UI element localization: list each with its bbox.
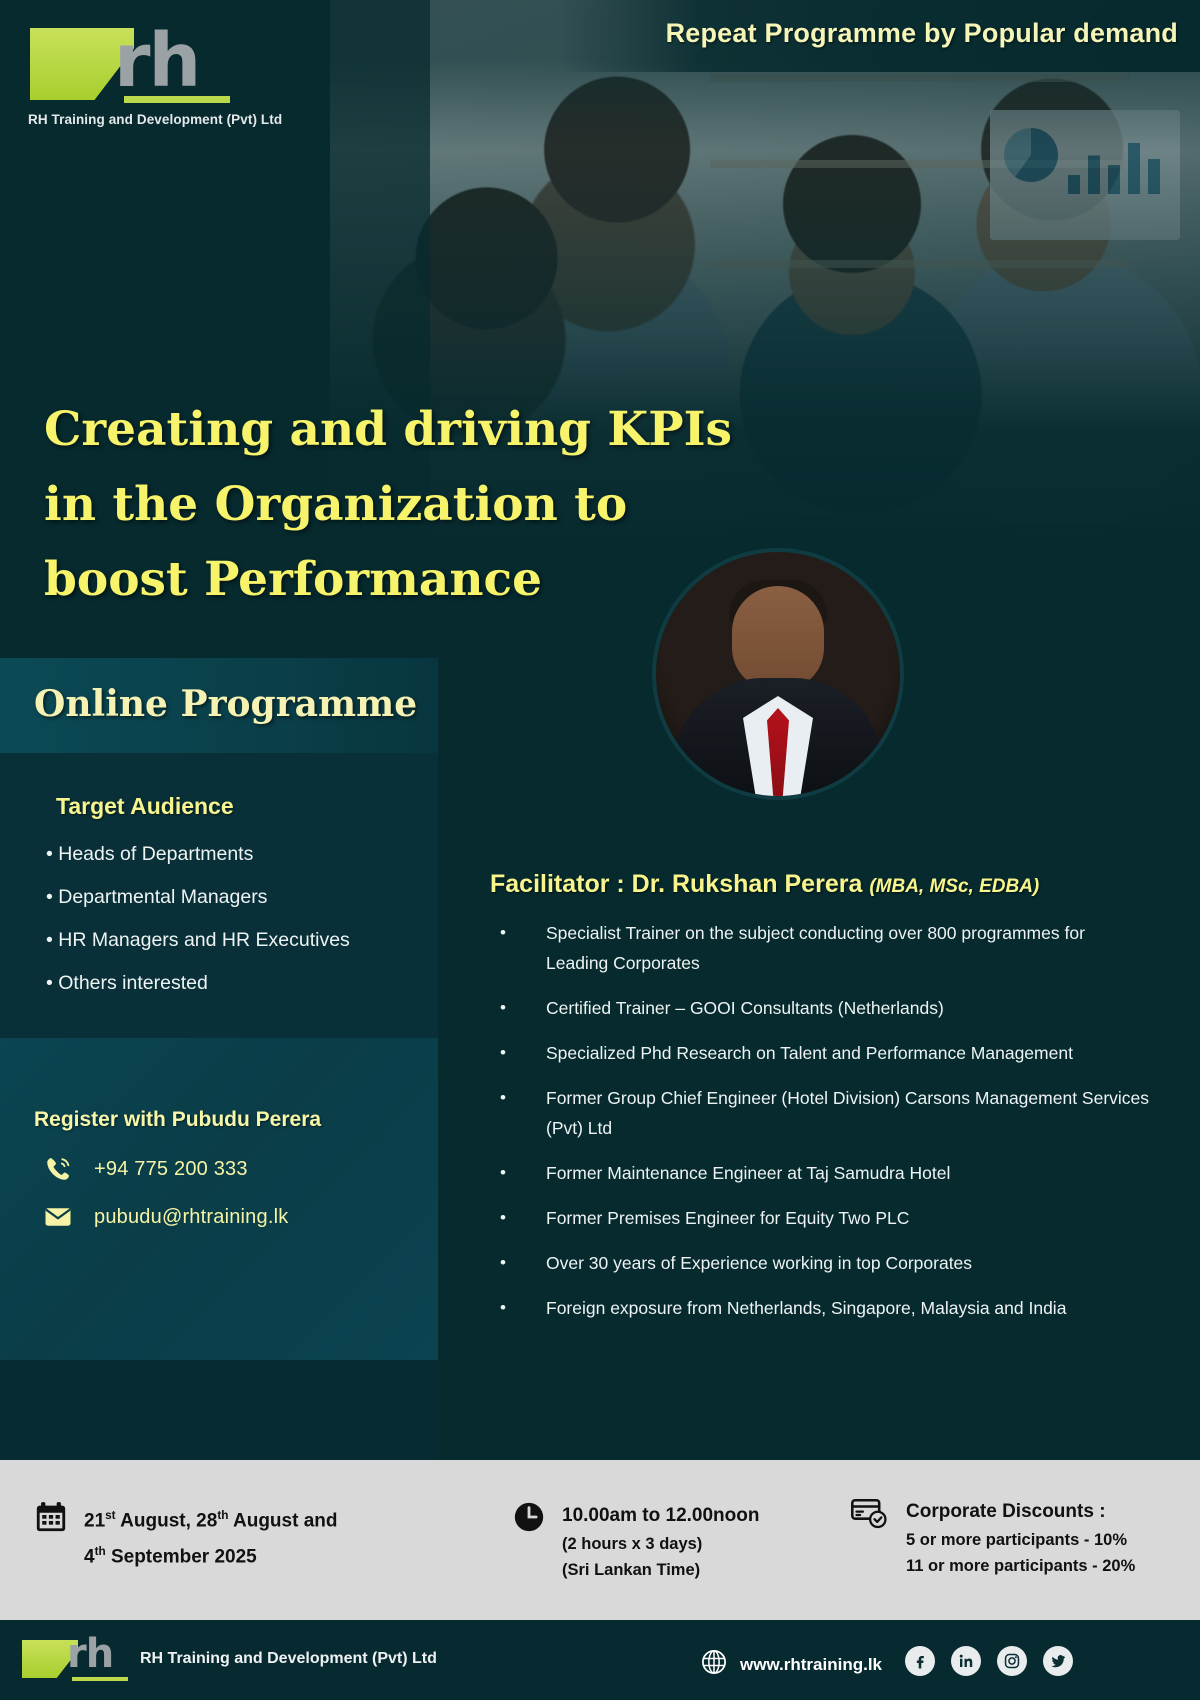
info-time-line-2: (2 hours x 3 days) (562, 1531, 759, 1557)
facebook-icon[interactable] (905, 1646, 935, 1676)
target-audience-heading: Target Audience (56, 793, 234, 820)
footer-company-name: RH Training and Development (Pvt) Ltd (140, 1650, 437, 1668)
title-line-2: in the Organization to (44, 467, 784, 542)
footer-logo-wordmark: rh (67, 1632, 113, 1676)
title-line-1: Creating and driving KPIs (44, 392, 784, 467)
page-title: Creating and driving KPIs in the Organiz… (44, 392, 784, 617)
company-name: RH Training and Development (Pvt) Ltd (28, 112, 328, 127)
list-item: Departmental Managers (46, 886, 426, 909)
register-phone-text: +94 775 200 333 (94, 1158, 248, 1181)
list-item: Certified Trainer – GOOI Consultants (Ne… (490, 993, 1150, 1023)
info-discount-line-1: Corporate Discounts : (906, 1496, 1135, 1527)
list-item: Over 30 years of Experience working in t… (490, 1248, 1150, 1278)
phone-icon (42, 1153, 74, 1185)
footer-logo: rh (22, 1636, 122, 1684)
list-item: Specialist Trainer on the subject conduc… (490, 918, 1150, 978)
info-time-line-3: (Sri Lankan Time) (562, 1557, 759, 1583)
mode-band: Online Programme (0, 658, 438, 753)
card-check-icon (850, 1496, 890, 1535)
portrait-suit (673, 678, 883, 796)
list-item: Specialized Phd Research on Talent and P… (490, 1038, 1150, 1068)
footer-logo-underline (72, 1677, 128, 1681)
social-links (905, 1646, 1073, 1676)
info-dates-line-1: 21st August, 28th August and (84, 1500, 338, 1536)
info-time-line-1: 10.00am to 12.00noon (562, 1500, 759, 1531)
info-bar: 21st August, 28th August and 4th Septemb… (0, 1460, 1200, 1620)
repeat-programme-badge: Repeat Programme by Popular demand (560, 0, 1200, 72)
globe-icon (700, 1648, 728, 1681)
footer-website[interactable]: www.rhtraining.lk (700, 1648, 882, 1681)
twitter-icon[interactable] (1043, 1646, 1073, 1676)
info-time: 10.00am to 12.00noon (2 hours x 3 days) … (512, 1500, 759, 1583)
portrait-face (732, 586, 824, 690)
list-item: Foreign exposure from Netherlands, Singa… (490, 1293, 1150, 1323)
info-discount-text: Corporate Discounts : 5 or more particip… (906, 1496, 1135, 1579)
list-item: Former Premises Engineer for Equity Two … (490, 1203, 1150, 1233)
facilitator-bullet-list: Specialist Trainer on the subject conduc… (490, 918, 1150, 1338)
list-item: Others interested (46, 972, 426, 995)
info-dates: 21st August, 28th August and 4th Septemb… (34, 1500, 338, 1573)
repeat-programme-text: Repeat Programme by Popular demand (666, 18, 1178, 49)
logo-wordmark: rh (114, 22, 199, 100)
facilitator-heading: Facilitator : Dr. Rukshan Perera (MBA, M… (490, 870, 1039, 899)
target-audience-list: Heads of Departments Departmental Manage… (46, 843, 426, 1015)
info-discount-line-2: 5 or more participants - 10% (906, 1527, 1135, 1553)
facilitator-portrait (652, 548, 904, 800)
facilitator-name: Facilitator : Dr. Rukshan Perera (490, 870, 862, 898)
envelope-icon (42, 1201, 74, 1233)
target-audience-panel: Target Audience Heads of Departments Dep… (0, 753, 438, 1038)
info-discount-line-3: 11 or more participants - 20% (906, 1553, 1135, 1579)
linkedin-icon[interactable] (951, 1646, 981, 1676)
instagram-icon[interactable] (997, 1646, 1027, 1676)
info-time-text: 10.00am to 12.00noon (2 hours x 3 days) … (562, 1500, 759, 1583)
register-email-row[interactable]: pubudu@rhtraining.lk (42, 1201, 288, 1233)
logo-underline (124, 96, 230, 103)
mode-label: Online Programme (34, 683, 438, 725)
info-dates-text: 21st August, 28th August and 4th Septemb… (84, 1500, 338, 1573)
list-item: Heads of Departments (46, 843, 426, 866)
calendar-icon (34, 1500, 68, 1539)
list-item: HR Managers and HR Executives (46, 929, 426, 952)
footer: rh RH Training and Development (Pvt) Ltd… (0, 1620, 1200, 1700)
clock-icon (512, 1500, 546, 1539)
logo-mark: rh (28, 22, 228, 104)
list-item: Former Group Chief Engineer (Hotel Divis… (490, 1083, 1150, 1143)
poster-root: Repeat Programme by Popular demand rh RH… (0, 0, 1200, 1700)
left-filler (0, 1360, 438, 1460)
info-discount: Corporate Discounts : 5 or more particip… (850, 1496, 1135, 1579)
facilitator-credentials: (MBA, MSc, EDBA) (869, 876, 1039, 897)
register-phone-row[interactable]: +94 775 200 333 (42, 1153, 248, 1185)
info-dates-line-2: 4th September 2025 (84, 1536, 338, 1572)
register-heading: Register with Pubudu Perera (34, 1108, 321, 1132)
list-item: Former Maintenance Engineer at Taj Samud… (490, 1158, 1150, 1188)
register-email-text: pubudu@rhtraining.lk (94, 1206, 288, 1229)
footer-website-text: www.rhtraining.lk (740, 1655, 882, 1675)
register-panel: Register with Pubudu Perera +94 775 200 … (0, 1038, 438, 1360)
brand-logo: rh RH Training and Development (Pvt) Ltd (28, 22, 328, 127)
